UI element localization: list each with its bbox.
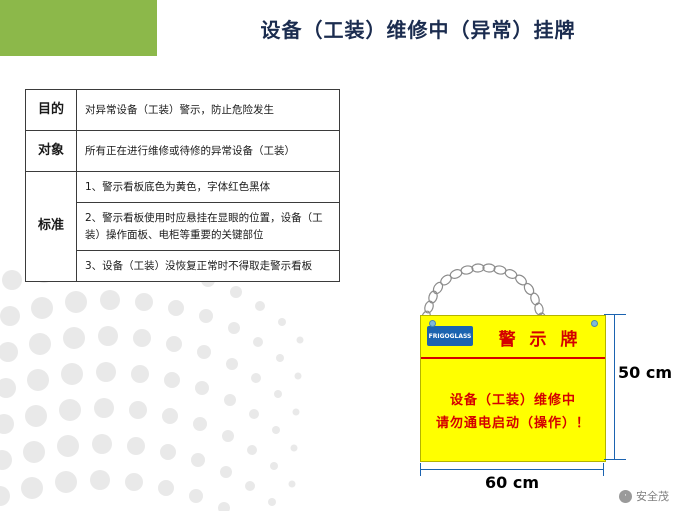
dimension-width-label: 60 cm [400,473,624,492]
dimension-line-vertical [614,315,617,460]
table-row-label: 目的 [26,90,77,131]
screw-icon [591,320,598,327]
table-row: 目的 对异常设备（工装）警示，防止危险发生 [26,90,340,131]
table-row-label: 标准 [26,172,77,282]
table-row-value: 对异常设备（工装）警示，防止危险发生 [77,90,340,131]
screw-icon [429,320,436,327]
warning-sign-illustration: FRIGOGLASS 警 示 牌 设备（工装）维修中 请勿通电启动（操作）！ 5… [400,255,660,490]
watermark-logo-icon: · [619,490,632,503]
table-row-value: 所有正在进行维修或待修的异常设备（工装） [77,131,340,172]
dimension-line-horizontal [420,469,604,470]
watermark-label: 安全茂 [636,488,669,504]
table-row: 标准 1、警示看板底色为黄色，字体红色黑体 [26,172,340,203]
table-row-value: 2、警示看板使用时应悬挂在显眼的位置，设备（工装）操作面板、电柜等重要的关键部位 [77,203,340,251]
info-table: 目的 对异常设备（工装）警示，防止危险发生 对象 所有正在进行维修或待修的异常设… [25,89,340,282]
dimension-height-label: 50 cm [618,363,672,382]
board-body-line: 请勿通电启动（操作）！ [436,412,590,431]
footer-watermark: · 安全茂 [619,488,669,504]
table-row-value: 3、设备（工装）没恢复正常时不得取走警示看板 [77,250,340,281]
board-header: FRIGOGLASS 警 示 牌 [421,316,605,359]
table-row-label: 对象 [26,131,77,172]
warning-board: FRIGOGLASS 警 示 牌 设备（工装）维修中 请勿通电启动（操作）！ [420,315,606,462]
page-title: 设备（工装）维修中（异常）挂牌 [157,0,679,56]
board-body-line: 设备（工装）维修中 [450,389,576,408]
decorative-dot-pattern [0,250,330,511]
table-row: 对象 所有正在进行维修或待修的异常设备（工装） [26,131,340,172]
frigoglass-logo: FRIGOGLASS [427,326,473,346]
board-title: 警 示 牌 [481,324,599,350]
board-body: 设备（工装）维修中 请勿通电启动（操作）！ [421,360,605,460]
table-row-value: 1、警示看板底色为黄色，字体红色黑体 [77,172,340,203]
